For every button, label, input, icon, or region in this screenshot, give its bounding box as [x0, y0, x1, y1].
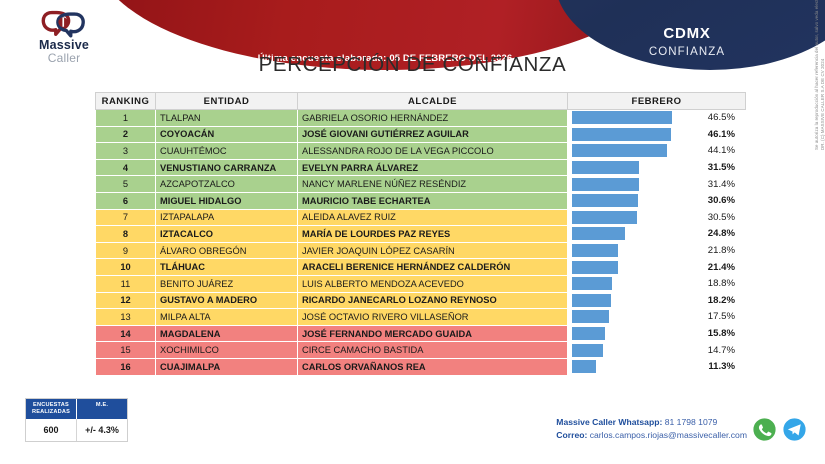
footer-email-value: carlos.campos.riojas@massivecaller.com [590, 430, 747, 440]
telegram-icon[interactable] [782, 417, 807, 442]
cell-febrero: 30.5% [568, 209, 746, 226]
cell-alcalde: GABRIELA OSORIO HERNÁNDEZ [298, 110, 568, 127]
bar [572, 128, 672, 141]
cell-alcalde: JOSÉ GIOVANI GUTIÉRREZ AGUILAR [298, 126, 568, 143]
bar-value-label: 18.8% [613, 278, 741, 289]
sample-stats-box: ENCUESTAS REALIZADAS M.E. 600 +/- 4.3% [25, 398, 128, 442]
cell-febrero: 14.7% [568, 342, 746, 359]
bar [572, 227, 626, 240]
cell-alcalde: ALEIDA ALAVEZ RUIZ [298, 209, 568, 226]
table-row: 13MILPA ALTAJOSÉ OCTAVIO RIVERO VILLASEÑ… [96, 309, 746, 326]
cell-ranking: 5 [96, 176, 156, 193]
table-header: RANKING ENTIDAD ALCALDE FEBRERO [96, 93, 746, 110]
stats-header-surveys: ENCUESTAS REALIZADAS [26, 399, 77, 419]
table-row: 9ÁLVARO OBREGÓNJAVIER JOAQUIN LÓPEZ CASA… [96, 242, 746, 259]
cell-febrero: 44.1% [568, 143, 746, 160]
bar-value-label: 31.5% [640, 162, 741, 173]
bar [572, 294, 612, 307]
bar-value-label: 44.1% [668, 145, 741, 156]
stats-header-surveys-l2: REALIZADAS [32, 409, 70, 415]
column-header-entidad: ENTIDAD [156, 93, 298, 110]
bar [572, 211, 638, 224]
bar [572, 244, 619, 257]
cell-ranking: 6 [96, 192, 156, 209]
bar-value-label: 11.3% [597, 361, 742, 372]
bar [572, 310, 610, 323]
cell-entidad: MAGDALENA [156, 325, 298, 342]
table-row: 14MAGDALENAJOSÉ FERNANDO MERCADO GUAIDA1… [96, 325, 746, 342]
cell-ranking: 10 [96, 259, 156, 276]
cell-entidad: VENUSTIANO CARRANZA [156, 159, 298, 176]
table-row: 11BENITO JUÁREZLUIS ALBERTO MENDOZA ACEV… [96, 275, 746, 292]
bar-row: 46.5% [572, 110, 741, 126]
cell-febrero: 15.8% [568, 325, 746, 342]
table-row: 3CUAUHTÉMOCALESSANDRA ROJO DE LA VEGA PI… [96, 143, 746, 160]
footer-email-label: Correo: [556, 430, 587, 440]
table-row: 8IZTACALCOMARÍA DE LOURDES PAZ REYES24.8… [96, 226, 746, 243]
cell-febrero: 18.8% [568, 275, 746, 292]
sample-stats-header: ENCUESTAS REALIZADAS M.E. [26, 399, 127, 419]
cell-ranking: 13 [96, 309, 156, 326]
bar-row: 14.7% [572, 342, 741, 358]
ranking-table: RANKING ENTIDAD ALCALDE FEBRERO 1TLALPAN… [95, 92, 746, 376]
bar-row: 46.1% [572, 127, 741, 143]
table-body: 1TLALPANGABRIELA OSORIO HERNÁNDEZ46.5%2C… [96, 110, 746, 376]
cell-alcalde: MARÍA DE LOURDES PAZ REYES [298, 226, 568, 243]
ranking-table-wrap: RANKING ENTIDAD ALCALDE FEBRERO 1TLALPAN… [95, 92, 745, 376]
stats-value-surveys: 600 [26, 419, 77, 441]
brand-subname: Caller [18, 52, 110, 65]
bar [572, 261, 619, 274]
table-header-row: RANKING ENTIDAD ALCALDE FEBRERO [96, 93, 746, 110]
bar-value-label: 30.6% [639, 195, 742, 206]
region-title: CDMX [555, 25, 819, 44]
page-title: PERCEPCIÓN DE CONFIANZA [0, 53, 825, 77]
cell-ranking: 4 [96, 159, 156, 176]
footer-whatsapp-value: 81 1798 1079 [665, 417, 718, 427]
bar [572, 327, 606, 340]
bar [572, 161, 640, 174]
whatsapp-icon[interactable] [752, 417, 777, 442]
cell-alcalde: JOSÉ OCTAVIO RIVERO VILLASEÑOR [298, 309, 568, 326]
cell-ranking: 9 [96, 242, 156, 259]
copyright-line-2: Se autoriza la reproducción al hacer ref… [814, 0, 819, 150]
bar-row: 15.8% [572, 326, 741, 342]
cell-entidad: MILPA ALTA [156, 309, 298, 326]
cell-febrero: 21.8% [568, 242, 746, 259]
table-row: 10TLÁHUACARACELI BERENICE HERNÁNDEZ CALD… [96, 259, 746, 276]
cell-febrero: 24.8% [568, 226, 746, 243]
footer-whatsapp-line: Massive Caller Whatsapp: 81 1798 1079 [556, 416, 747, 429]
table-row: 15XOCHIMILCOCIRCE CAMACHO BASTIDA14.7% [96, 342, 746, 359]
cell-alcalde: ARACELI BERENICE HERNÁNDEZ CALDERÓN [298, 259, 568, 276]
massive-caller-logo-icon [41, 8, 87, 38]
cell-febrero: 30.6% [568, 192, 746, 209]
table-row: 16CUAJIMALPACARLOS ORVAÑANOS REA11.3% [96, 358, 746, 375]
cell-entidad: BENITO JUÁREZ [156, 275, 298, 292]
cell-ranking: 8 [96, 226, 156, 243]
cell-entidad: IZTACALCO [156, 226, 298, 243]
column-header-ranking: RANKING [96, 93, 156, 110]
cell-ranking: 15 [96, 342, 156, 359]
bar-row: 24.8% [572, 226, 741, 242]
cell-alcalde: EVELYN PARRA ÁLVAREZ [298, 159, 568, 176]
bar [572, 144, 668, 157]
cell-entidad: GUSTAVO A MADERO [156, 292, 298, 309]
bar [572, 277, 613, 290]
stats-header-surveys-l1: ENCUESTAS [33, 402, 69, 408]
cell-entidad: CUAJIMALPA [156, 358, 298, 375]
footer-email-line: Correo: carlos.campos.riojas@massivecall… [556, 429, 747, 442]
cell-ranking: 12 [96, 292, 156, 309]
table-row: 5AZCAPOTZALCONANCY MARLENE NÚÑEZ RESÉNDI… [96, 176, 746, 193]
cell-entidad: MIGUEL HIDALGO [156, 192, 298, 209]
cell-ranking: 3 [96, 143, 156, 160]
bar-row: 30.5% [572, 210, 741, 226]
bar-row: 21.8% [572, 243, 741, 259]
cell-febrero: 17.5% [568, 309, 746, 326]
bar-row: 44.1% [572, 143, 741, 159]
cell-ranking: 11 [96, 275, 156, 292]
bar-value-label: 46.5% [673, 112, 741, 123]
cell-ranking: 16 [96, 358, 156, 375]
cell-ranking: 2 [96, 126, 156, 143]
column-header-febrero: FEBRERO [568, 93, 746, 110]
table-row: 6MIGUEL HIDALGOMAURICIO TABE ECHARTEA30.… [96, 192, 746, 209]
bar-row: 18.2% [572, 293, 741, 309]
footer-whatsapp-label: Massive Caller Whatsapp: [556, 417, 662, 427]
cell-febrero: 11.3% [568, 358, 746, 375]
copyright-line-1: DR. (C) MASSIVE CALLER S.A DE CV 2024 [820, 0, 825, 150]
cell-alcalde: JAVIER JOAQUIN LÓPEZ CASARÍN [298, 242, 568, 259]
cell-febrero: 31.4% [568, 176, 746, 193]
cell-febrero: 46.1% [568, 126, 746, 143]
bar [572, 360, 597, 373]
cell-alcalde: LUIS ALBERTO MENDOZA ACEVEDO [298, 275, 568, 292]
cell-febrero: 21.4% [568, 259, 746, 276]
brand-logo: Massive Caller [18, 8, 110, 66]
bar-row: 31.4% [572, 176, 741, 192]
sample-stats-body: 600 +/- 4.3% [26, 419, 127, 441]
column-header-alcalde: ALCALDE [298, 93, 568, 110]
cell-entidad: ÁLVARO OBREGÓN [156, 242, 298, 259]
bar-value-label: 24.8% [626, 228, 741, 239]
cell-alcalde: MAURICIO TABE ECHARTEA [298, 192, 568, 209]
bar-value-label: 31.4% [640, 179, 741, 190]
bar-row: 18.8% [572, 276, 741, 292]
table-row: 1TLALPANGABRIELA OSORIO HERNÁNDEZ46.5% [96, 110, 746, 127]
table-row: 7IZTAPALAPAALEIDA ALAVEZ RUIZ30.5% [96, 209, 746, 226]
cell-alcalde: CARLOS ORVAÑANOS REA [298, 358, 568, 375]
cell-ranking: 7 [96, 209, 156, 226]
bar-value-label: 21.8% [619, 245, 741, 256]
bar-value-label: 18.2% [612, 295, 742, 306]
copyright-vertical: DR. (C) MASSIVE CALLER S.A DE CV 2024 Se… [809, 150, 823, 400]
cell-entidad: TLÁHUAC [156, 259, 298, 276]
cell-ranking: 14 [96, 325, 156, 342]
cell-entidad: XOCHIMILCO [156, 342, 298, 359]
cell-alcalde: CIRCE CAMACHO BASTIDA [298, 342, 568, 359]
bar-value-label: 17.5% [610, 311, 741, 322]
bar-value-label: 21.4% [619, 262, 742, 273]
bar-value-label: 14.7% [604, 345, 741, 356]
cell-entidad: TLALPAN [156, 110, 298, 127]
table-row: 2COYOACÁNJOSÉ GIOVANI GUTIÉRREZ AGUILAR4… [96, 126, 746, 143]
poll-infographic: Última encuesta elaborada: 05 DE FEBRERO… [0, 0, 825, 464]
bar-row: 11.3% [572, 359, 741, 375]
bar-row: 21.4% [572, 259, 741, 275]
stats-value-margin: +/- 4.3% [77, 419, 127, 441]
cell-alcalde: RICARDO JANECARLO LOZANO REYNOSO [298, 292, 568, 309]
cell-entidad: CUAUHTÉMOC [156, 143, 298, 160]
bar-row: 31.5% [572, 160, 741, 176]
bar-value-label: 15.8% [606, 328, 741, 339]
cell-febrero: 46.5% [568, 110, 746, 127]
bar [572, 178, 640, 191]
bar-value-label: 30.5% [638, 212, 741, 223]
cell-entidad: AZCAPOTZALCO [156, 176, 298, 193]
cell-alcalde: NANCY MARLENE NÚÑEZ RESÉNDIZ [298, 176, 568, 193]
bar [572, 194, 639, 207]
bar [572, 344, 604, 357]
cell-febrero: 31.5% [568, 159, 746, 176]
cell-febrero: 18.2% [568, 292, 746, 309]
cell-ranking: 1 [96, 110, 156, 127]
bar-value-label: 46.1% [672, 129, 741, 140]
cell-entidad: COYOACÁN [156, 126, 298, 143]
bar-row: 30.6% [572, 193, 741, 209]
footer-contact: Massive Caller Whatsapp: 81 1798 1079 Co… [556, 416, 747, 442]
cell-alcalde: JOSÉ FERNANDO MERCADO GUAIDA [298, 325, 568, 342]
cell-alcalde: ALESSANDRA ROJO DE LA VEGA PICCOLO [298, 143, 568, 160]
table-row: 4VENUSTIANO CARRANZAEVELYN PARRA ÁLVAREZ… [96, 159, 746, 176]
table-row: 12GUSTAVO A MADERORICARDO JANECARLO LOZA… [96, 292, 746, 309]
bar [572, 111, 673, 124]
bar-row: 17.5% [572, 309, 741, 325]
stats-header-margin: M.E. [77, 399, 127, 419]
footer-social-icons [752, 417, 807, 442]
cell-entidad: IZTAPALAPA [156, 209, 298, 226]
